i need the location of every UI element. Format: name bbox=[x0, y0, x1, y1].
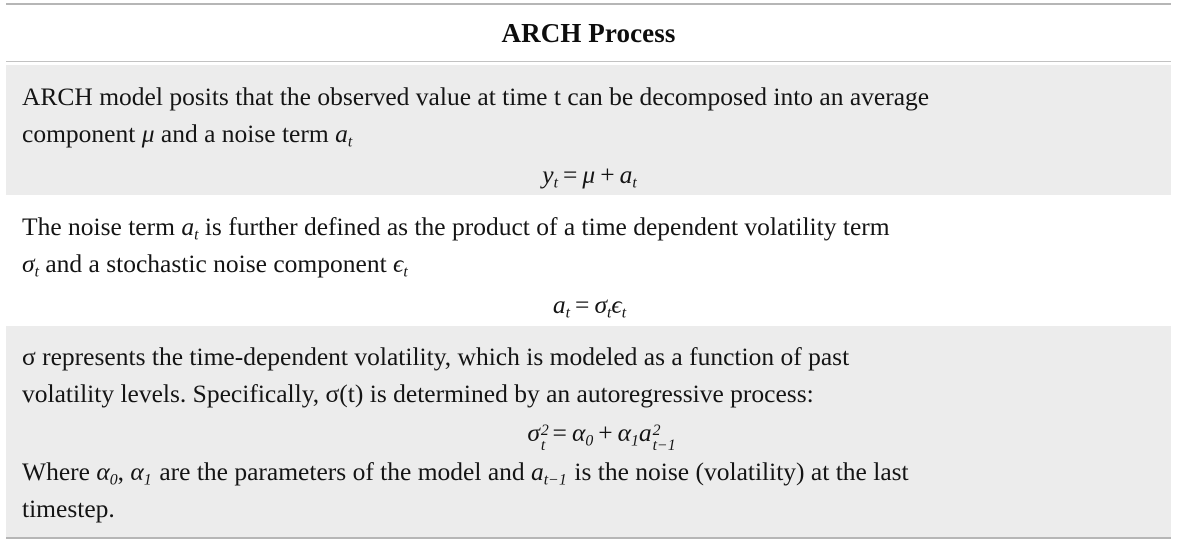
alpha0-symbol: α bbox=[96, 457, 109, 486]
section-1-paragraph: ARCH model posits that the observed valu… bbox=[22, 65, 1157, 152]
section-3-line-1: σ represents the time-dependent volatili… bbox=[22, 342, 849, 371]
equation-sigma-squared: σ2t=α0+α1a2t−1 bbox=[22, 412, 1157, 453]
equation-yt-a-base: a bbox=[620, 160, 633, 189]
section-noise-term: The noise term at is further defined as … bbox=[6, 195, 1171, 326]
section-1-line-2-middle: and a noise term bbox=[155, 119, 336, 148]
section-3-tail-line-2: timestep. bbox=[22, 494, 115, 523]
equation-yt: yt=μ+at bbox=[22, 152, 1157, 195]
equation-alpha1-base: α bbox=[618, 418, 631, 447]
document-title-band: ARCH Process bbox=[6, 5, 1171, 61]
title-divider-rule bbox=[6, 61, 1171, 62]
equation-sigma-plus: + bbox=[593, 418, 617, 447]
sigma-symbol: σ bbox=[22, 249, 35, 278]
epsilon-symbol: ϵ bbox=[393, 249, 403, 278]
equation-sigma-lhs-base: σ bbox=[527, 418, 540, 447]
equation-at: at=σtϵt bbox=[22, 282, 1157, 325]
a-lag-symbol: a bbox=[531, 457, 544, 486]
section-2-line-2-middle: and a stochastic noise component bbox=[39, 249, 393, 278]
bottom-border-rule bbox=[6, 537, 1171, 539]
equation-sigma-equals: = bbox=[548, 418, 572, 447]
section-3-tail-prefix: Where bbox=[22, 457, 96, 486]
equation-at-epsilon-base: ϵ bbox=[611, 290, 621, 319]
equation-at-sigma-base: σ bbox=[594, 290, 607, 319]
section-3-tail-paragraph: Where α0, α1are the parameters of the mo… bbox=[22, 453, 1157, 527]
equation-yt-mu: μ bbox=[582, 160, 595, 189]
equation-yt-lhs-base: y bbox=[542, 160, 553, 189]
equation-alpha1-sub: 1 bbox=[631, 432, 639, 449]
alpha0-symbol-subscript: 0 bbox=[110, 471, 118, 488]
equation-at-equals: = bbox=[570, 290, 594, 319]
page-title: ARCH Process bbox=[502, 18, 676, 49]
a-symbol-subscript: t bbox=[348, 133, 352, 150]
equation-a-lag-base: a bbox=[639, 418, 652, 447]
equation-at-epsilon-sub: t bbox=[622, 304, 626, 321]
section-observed-value: ARCH model posits that the observed valu… bbox=[6, 65, 1171, 195]
a-symbol: a bbox=[335, 119, 348, 148]
section-1-line-1: ARCH model posits that the observed valu… bbox=[22, 82, 929, 111]
equation-yt-plus: + bbox=[595, 160, 619, 189]
alpha1-symbol-subscript: 1 bbox=[144, 471, 152, 488]
equation-at-lhs-base: a bbox=[553, 290, 566, 319]
section-2-paragraph: The noise term at is further defined as … bbox=[22, 195, 1157, 282]
equation-yt-equals: = bbox=[558, 160, 582, 189]
section-1-line-2-prefix: component bbox=[22, 119, 142, 148]
section-3-paragraph: σ represents the time-dependent volatili… bbox=[22, 326, 1157, 412]
section-2-line-1-prefix: The noise term bbox=[22, 212, 181, 241]
alpha1-symbol: α bbox=[130, 457, 143, 486]
section-2-line-1-suffix: is further defined as the product of a t… bbox=[198, 212, 889, 241]
section-3-tail-comma: , bbox=[118, 457, 131, 486]
section-3-line-2: volatility levels. Specifically, σ(t) is… bbox=[22, 379, 814, 408]
epsilon-symbol-subscript: t bbox=[403, 263, 407, 280]
section-3-tail-suffix: is the noise (volatility) at the last bbox=[574, 457, 908, 486]
equation-alpha0-base: α bbox=[572, 418, 585, 447]
section-volatility-process: σ represents the time-dependent volatili… bbox=[6, 326, 1171, 537]
a-symbol: a bbox=[181, 212, 194, 241]
a-lag-symbol-subscript: t−1 bbox=[544, 471, 567, 488]
mu-symbol: μ bbox=[142, 119, 155, 148]
section-3-tail-middle: are the parameters of the model and bbox=[159, 457, 531, 486]
equation-yt-a-sub: t bbox=[632, 174, 636, 191]
arch-process-document: ARCH Process ARCH model posits that the … bbox=[0, 0, 1179, 546]
